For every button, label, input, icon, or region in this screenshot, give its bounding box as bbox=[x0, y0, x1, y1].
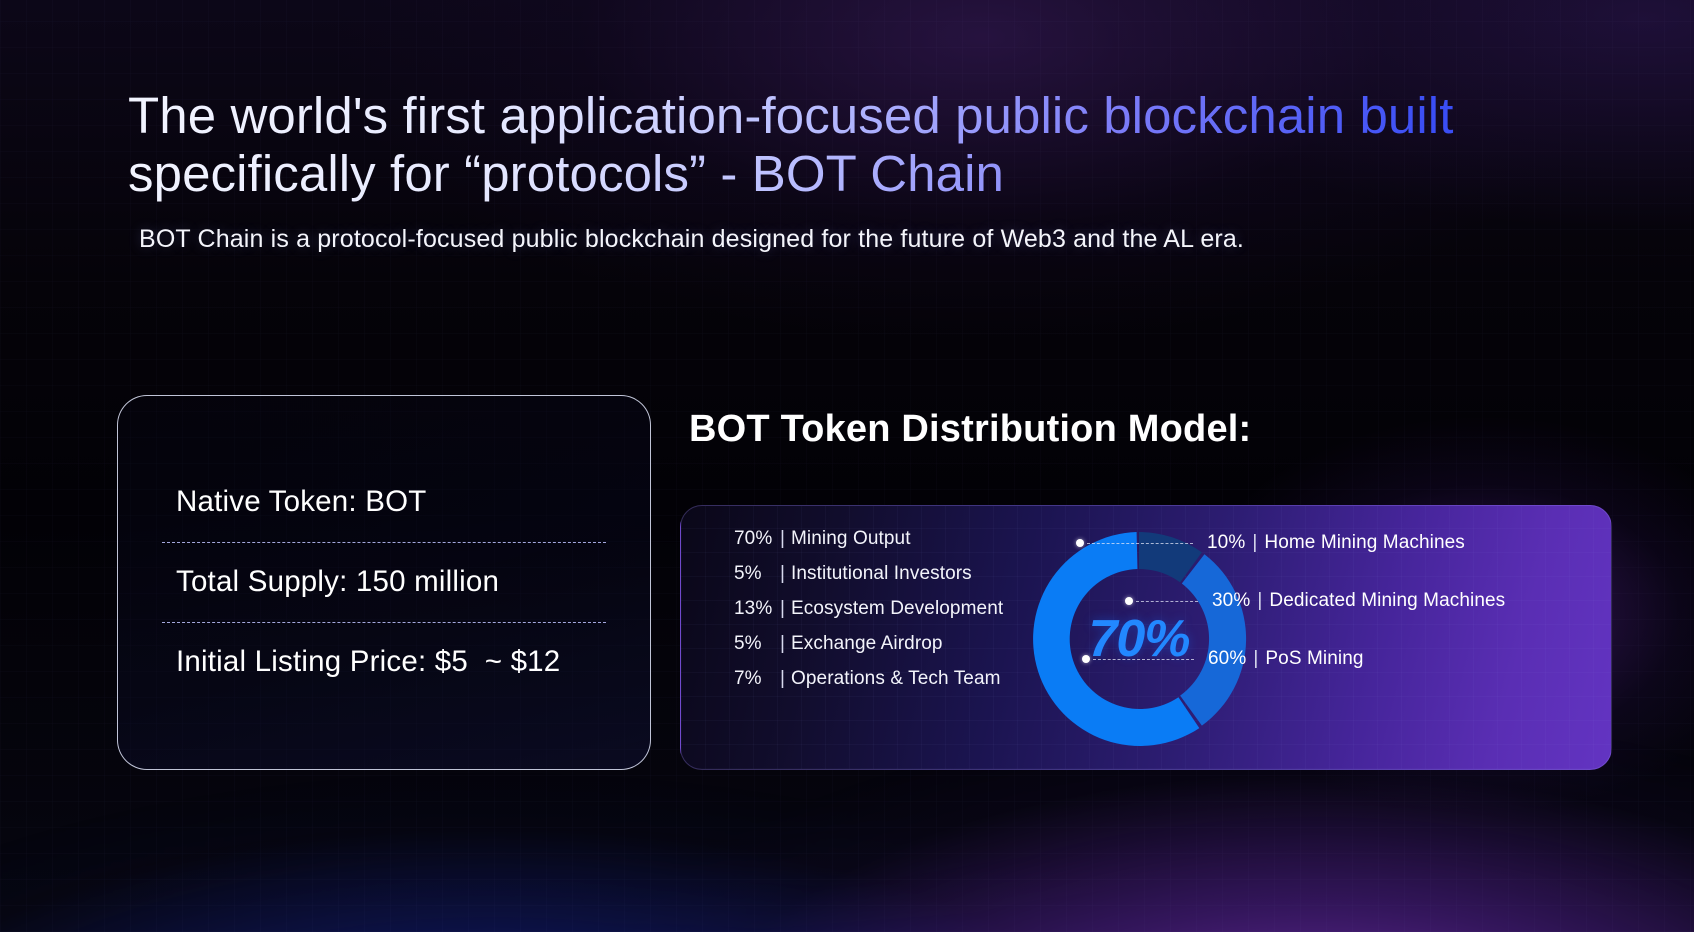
legend-item: 13% | Ecosystem Development bbox=[734, 598, 1003, 633]
legend-separator: | bbox=[774, 563, 791, 585]
page-subtitle: BOT Chain is a protocol-focused public b… bbox=[139, 225, 1244, 254]
callout-separator: | bbox=[1253, 648, 1258, 669]
callout-dedicated-mining: 30%|Dedicated Mining Machines bbox=[1125, 590, 1505, 612]
info-divider-1 bbox=[162, 542, 606, 543]
callout-text: 60%|PoS Mining bbox=[1208, 648, 1364, 670]
legend-separator: | bbox=[774, 528, 791, 550]
callout-dot-icon bbox=[1076, 539, 1084, 547]
callout-leader-line bbox=[1136, 601, 1198, 602]
legend-label: Exchange Airdrop bbox=[791, 633, 943, 655]
callout-text: 10%|Home Mining Machines bbox=[1207, 532, 1465, 554]
slide-root: The world's first application-focused pu… bbox=[0, 0, 1694, 932]
legend-label: Institutional Investors bbox=[791, 563, 972, 585]
callout-leader-line bbox=[1093, 659, 1194, 660]
legend-label: Operations & Tech Team bbox=[791, 668, 1001, 690]
callout-dot-icon bbox=[1082, 655, 1090, 663]
callout-percent: 10% bbox=[1207, 532, 1245, 554]
token-info-card: Native Token: BOT Total Supply: 150 mill… bbox=[117, 395, 651, 770]
callout-separator: | bbox=[1257, 590, 1262, 611]
legend-percent: 7% bbox=[734, 668, 774, 690]
legend-separator: | bbox=[774, 633, 791, 655]
info-row-total-supply: Total Supply: 150 million bbox=[160, 543, 608, 622]
token-distribution-panel: 70% | Mining Output 5% | Institutional I… bbox=[680, 505, 1612, 770]
legend-separator: | bbox=[774, 598, 791, 620]
legend-percent: 5% bbox=[734, 633, 774, 655]
info-divider-2 bbox=[162, 622, 606, 623]
legend-percent: 70% bbox=[734, 528, 774, 550]
legend-percent: 13% bbox=[734, 598, 774, 620]
legend-percent: 5% bbox=[734, 563, 774, 585]
callout-text: 30%|Dedicated Mining Machines bbox=[1212, 590, 1505, 612]
callout-label: PoS Mining bbox=[1265, 648, 1363, 669]
callout-pos-mining: 60%|PoS Mining bbox=[1082, 648, 1364, 670]
callout-dot-icon bbox=[1125, 597, 1133, 605]
chart-heading: BOT Token Distribution Model: bbox=[689, 408, 1251, 451]
callout-label: Home Mining Machines bbox=[1264, 532, 1465, 553]
page-title: The world's first application-focused pu… bbox=[128, 87, 1628, 203]
info-row-native-token: Native Token: BOT bbox=[160, 463, 608, 542]
legend-item: 5% | Exchange Airdrop bbox=[734, 633, 1003, 668]
legend-label: Ecosystem Development bbox=[791, 598, 1003, 620]
legend-separator: | bbox=[774, 668, 791, 690]
legend-item: 70% | Mining Output bbox=[734, 528, 1003, 563]
callout-home-mining: 10%|Home Mining Machines bbox=[1076, 532, 1465, 554]
callout-percent: 30% bbox=[1212, 590, 1250, 612]
legend-item: 5% | Institutional Investors bbox=[734, 563, 1003, 598]
chart-legend: 70% | Mining Output 5% | Institutional I… bbox=[734, 528, 1003, 703]
legend-item: 7% | Operations & Tech Team bbox=[734, 668, 1003, 703]
callout-percent: 60% bbox=[1208, 648, 1246, 670]
donut-callouts: 10%|Home Mining Machines 30%|Dedicated M… bbox=[1076, 506, 1596, 770]
callout-label: Dedicated Mining Machines bbox=[1269, 590, 1505, 611]
info-row-initial-price: Initial Listing Price: $5 ~ $12 bbox=[160, 623, 608, 702]
callout-separator: | bbox=[1252, 532, 1257, 553]
callout-leader-line bbox=[1087, 543, 1193, 544]
legend-label: Mining Output bbox=[791, 528, 911, 550]
